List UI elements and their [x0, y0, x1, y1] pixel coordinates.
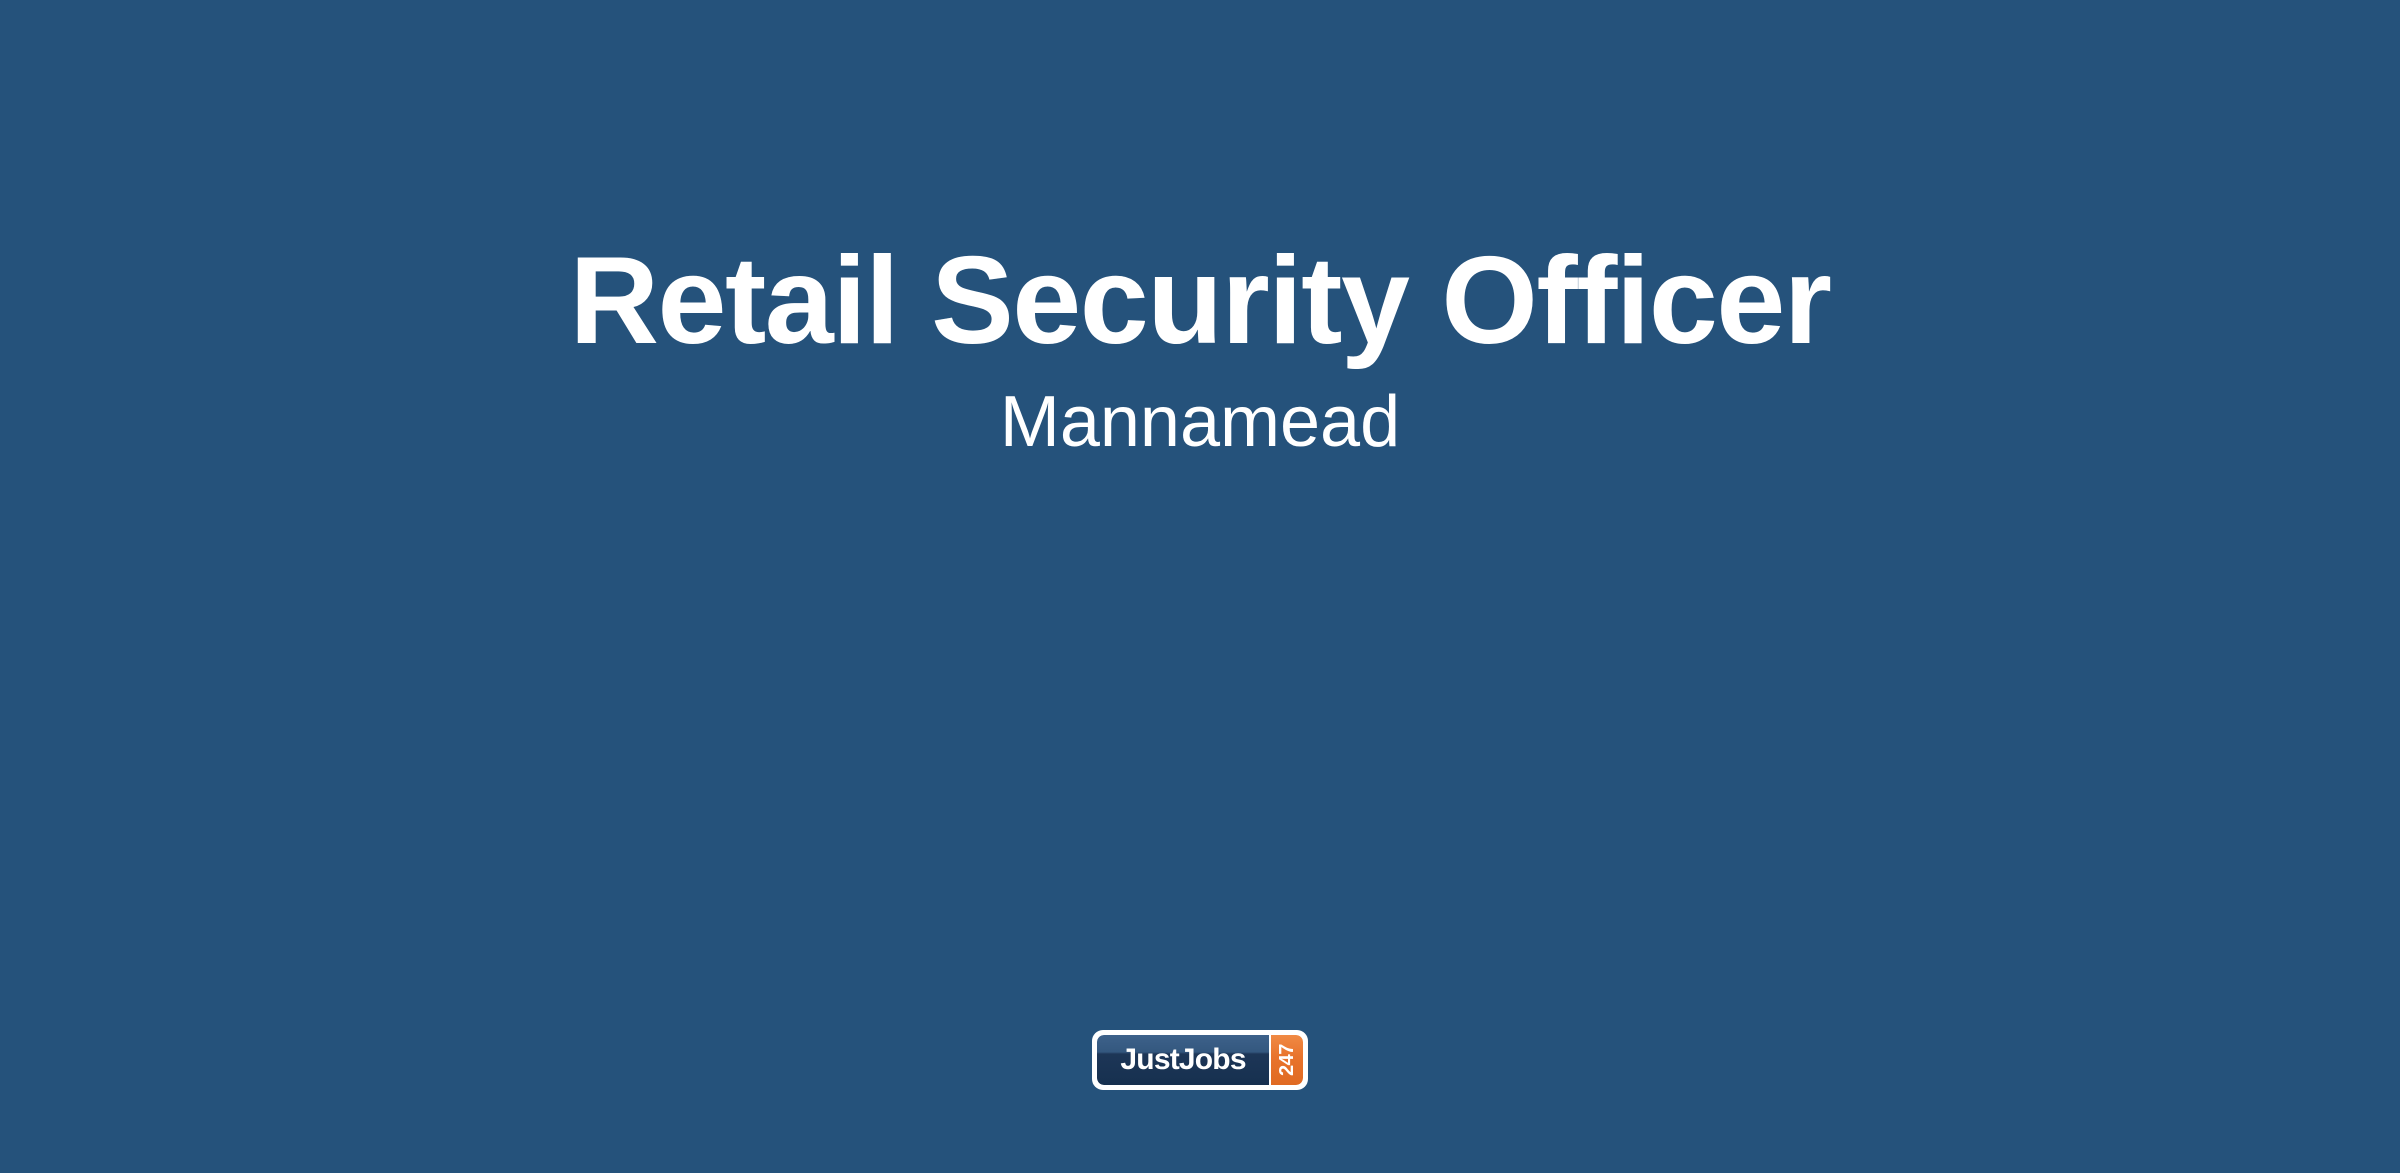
justjobs247-logo[interactable]: JustJobs 247 [1092, 1030, 1308, 1090]
logo-inner: JustJobs 247 [1097, 1035, 1303, 1085]
logo-wordmark-panel: JustJobs [1097, 1035, 1269, 1085]
logo-wordmark-text: JustJobs [1120, 1045, 1245, 1076]
job-advert-slide: Retail Security Officer Mannamead JustJo… [0, 0, 2400, 1173]
logo-247-badge: 247 [1269, 1035, 1303, 1085]
footer: JustJobs 247 [0, 1030, 2400, 1090]
job-location-subtitle: Mannamead [1000, 383, 1400, 462]
page-title: Retail Security Officer [569, 238, 1830, 364]
logo-247-badge-text: 247 [1277, 1044, 1297, 1076]
hero-text-block: Retail Security Officer Mannamead [0, 0, 2400, 700]
